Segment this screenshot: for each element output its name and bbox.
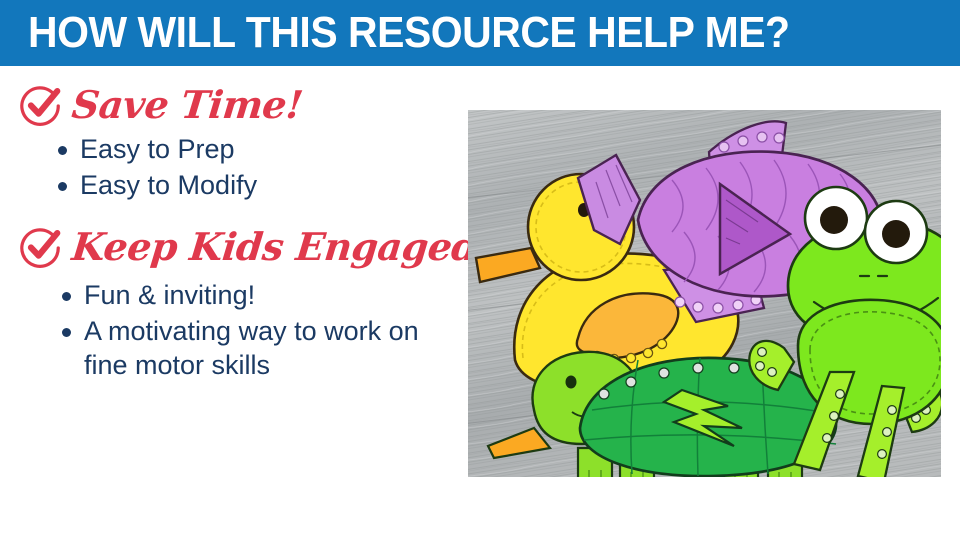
bullet-text: A motivating way to work on fine motor s… — [84, 314, 444, 383]
benefit-group-save-time: Save Time! Easy to Prep Easy to Modify — [14, 82, 468, 202]
bullet-text: Fun & inviting! — [84, 278, 255, 313]
bullet-dot-icon — [58, 146, 67, 155]
benefits-panel: Save Time! Easy to Prep Easy to Modify K… — [0, 66, 468, 540]
page-title: HOW WILL THIS RESOURCE HELP ME? — [28, 11, 790, 55]
list-item: Easy to Modify — [58, 168, 468, 203]
benefit-heading-text: Keep Kids Engaged! — [70, 228, 496, 267]
benefit-heading-row: Save Time! — [18, 82, 468, 128]
bullet-text: Easy to Modify — [80, 168, 257, 203]
bullet-dot-icon — [58, 182, 67, 191]
bullet-text: Easy to Prep — [80, 132, 235, 167]
header-banner: HOW WILL THIS RESOURCE HELP ME? — [0, 0, 960, 66]
list-item: A motivating way to work on fine motor s… — [62, 314, 468, 383]
benefit-group-keep-kids-engaged: Keep Kids Engaged! Fun & inviting! A mot… — [14, 224, 468, 383]
benefit-bullet-list: Easy to Prep Easy to Modify — [14, 132, 468, 202]
photo-illustration — [468, 110, 941, 477]
benefit-heading-text: Save Time! — [70, 86, 304, 125]
check-circle-icon — [18, 224, 64, 270]
list-item: Fun & inviting! — [62, 278, 468, 313]
bullet-dot-icon — [62, 292, 71, 301]
bullet-dot-icon — [62, 328, 71, 337]
benefit-heading-row: Keep Kids Engaged! — [18, 224, 468, 270]
list-item: Easy to Prep — [58, 132, 468, 167]
check-circle-icon — [18, 82, 64, 128]
paper-craft-animals-photo — [468, 110, 941, 477]
benefit-bullet-list: Fun & inviting! A motivating way to work… — [14, 278, 468, 383]
